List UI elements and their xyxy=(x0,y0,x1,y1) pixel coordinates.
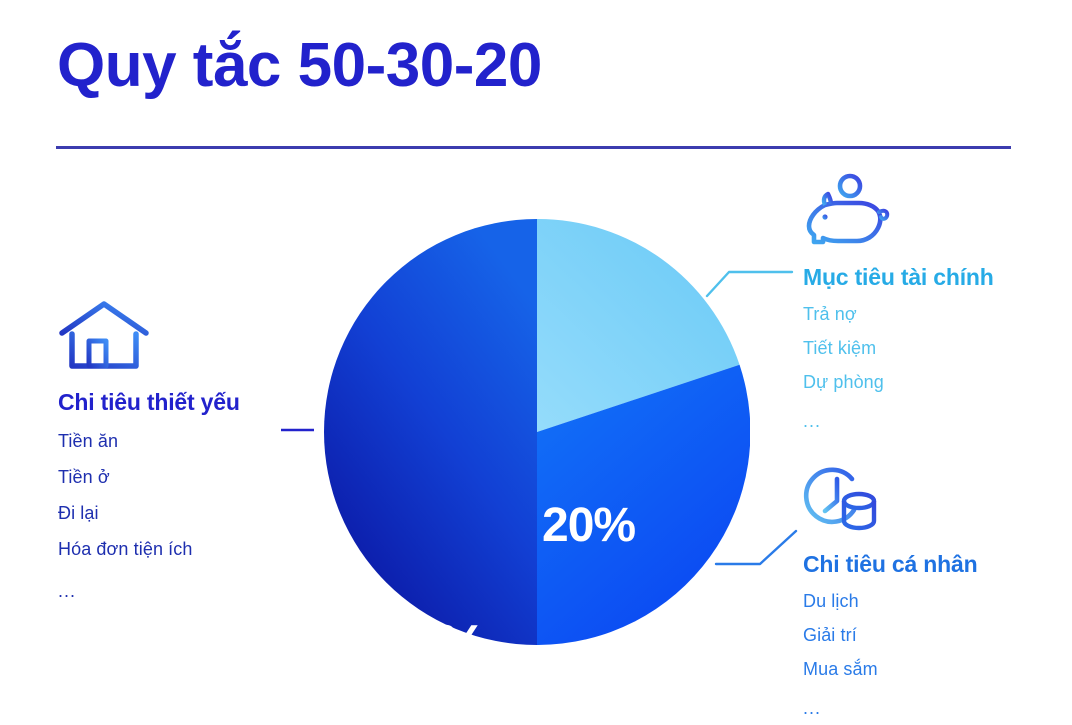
callout-goals-item: Tiết kiệm xyxy=(803,338,994,359)
house-icon xyxy=(58,300,150,372)
pie-label-30: 30% xyxy=(574,670,667,725)
callout-essentials: Chi tiêu thiết yếu Tiền ăn Tiền ở Đi lại… xyxy=(58,300,240,602)
pie-slice-50 xyxy=(324,219,537,645)
pie-label-50: 50% xyxy=(366,612,487,683)
callout-personal-ellipsis: ... xyxy=(803,698,977,719)
callout-goals: Mục tiêu tài chính Trả nợ Tiết kiệm Dự p… xyxy=(803,172,994,432)
callout-essentials-item: Đi lại xyxy=(58,503,240,524)
callout-personal-item: Giải trí xyxy=(803,625,977,646)
callout-personal-heading: Chi tiêu cá nhân xyxy=(803,551,977,578)
callout-goals-item: Trả nợ xyxy=(803,304,994,325)
piggy-bank-icon xyxy=(803,172,891,250)
callout-essentials-item: Tiền ở xyxy=(58,467,240,488)
callout-essentials-heading: Chi tiêu thiết yếu xyxy=(58,389,240,416)
callout-personal-item: Mua sắm xyxy=(803,659,977,680)
callout-personal: Chi tiêu cá nhân Du lịch Giải trí Mua sắ… xyxy=(803,463,977,719)
pie-label-20: 20% xyxy=(542,498,635,553)
page-title: Quy tắc 50-30-20 xyxy=(57,33,542,98)
callout-essentials-item: Tiền ăn xyxy=(58,431,240,452)
callout-essentials-item: Hóa đơn tiện ích xyxy=(58,539,240,560)
title-divider xyxy=(56,146,1011,149)
callout-goals-ellipsis: ... xyxy=(803,411,994,432)
pie-chart: 50% 20% 30% xyxy=(324,219,750,645)
callout-essentials-ellipsis: ... xyxy=(58,581,240,602)
callout-goals-item: Dự phòng xyxy=(803,372,994,393)
clock-coins-icon xyxy=(803,463,883,537)
callout-personal-item: Du lịch xyxy=(803,591,977,612)
callout-goals-heading: Mục tiêu tài chính xyxy=(803,264,994,291)
